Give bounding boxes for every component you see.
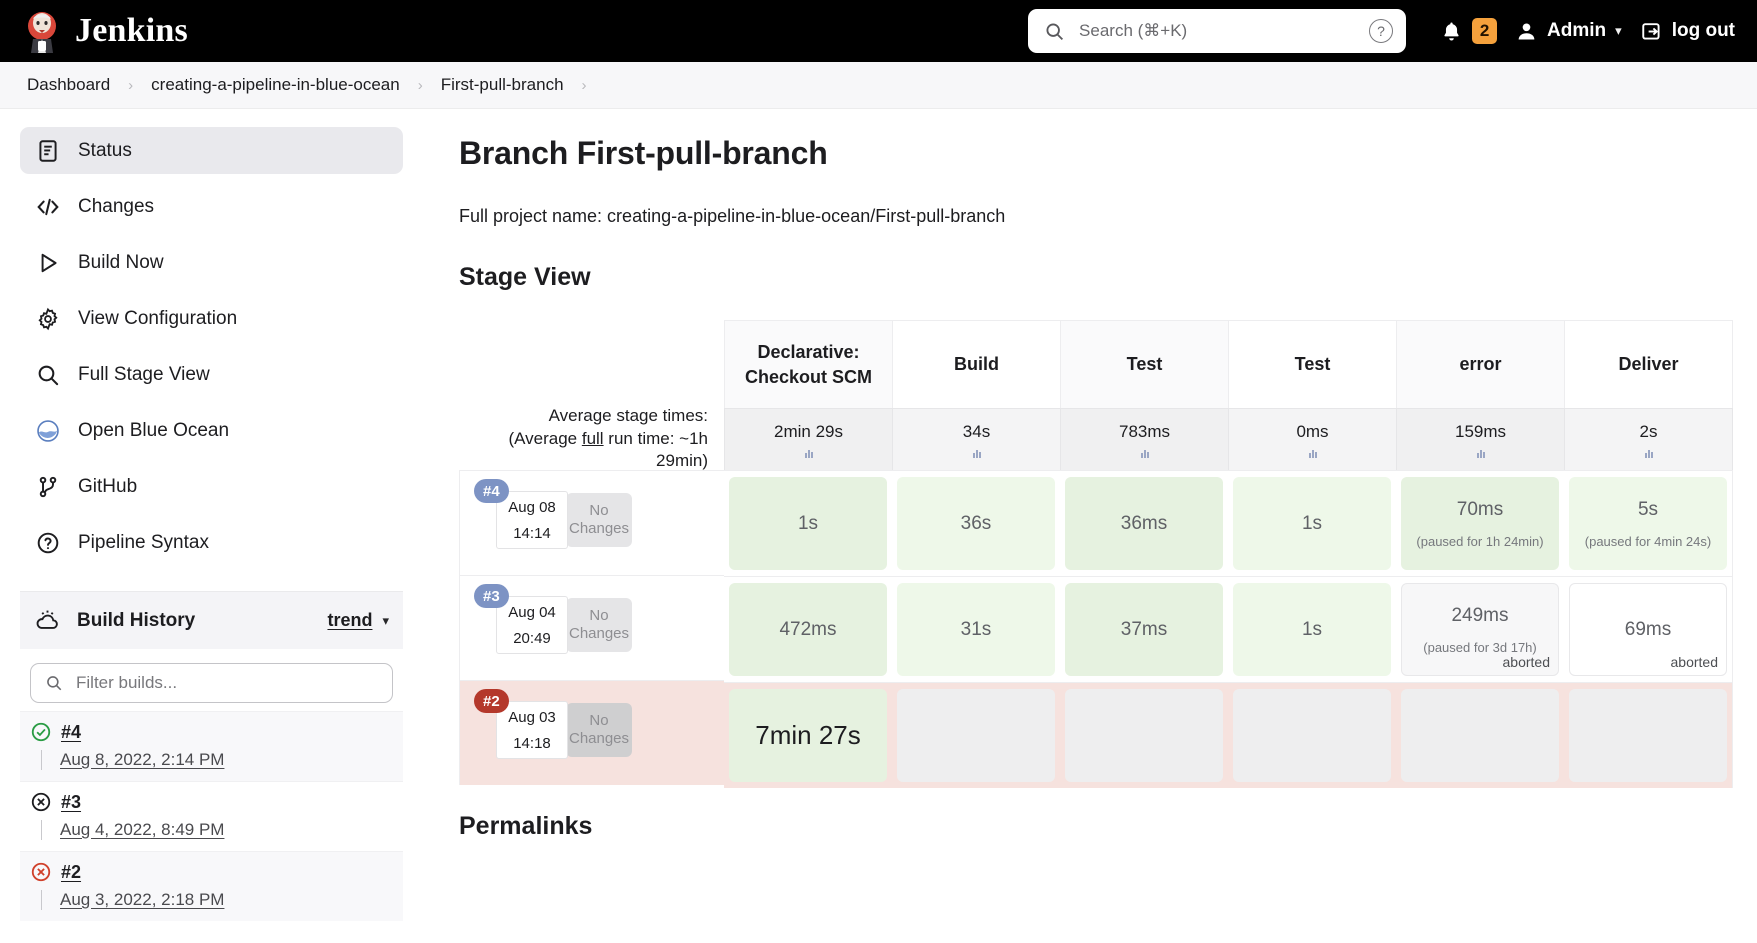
stage-cell[interactable]: 5s (paused for 4min 24s)	[1569, 477, 1727, 570]
sidebar-item-status[interactable]: Status	[20, 127, 403, 174]
notification-count-badge[interactable]: 2	[1472, 18, 1497, 44]
permalinks-title: Permalinks	[459, 812, 1733, 841]
build-date-chip[interactable]: Aug 03 14:18	[496, 701, 568, 759]
build-number-link[interactable]: #4	[61, 722, 81, 743]
build-row-label[interactable]: #3 Aug 04 20:49 No Changes	[459, 575, 724, 680]
stage-cell	[1233, 689, 1391, 782]
stage-cell[interactable]: 1s	[729, 477, 887, 570]
stage-paused-note: (paused for 1h 24min)	[1416, 534, 1543, 549]
build-time: 20:49	[513, 630, 551, 647]
sidebar-item-build-now[interactable]: Build Now	[20, 239, 403, 286]
average-time-cell: 783ms	[1060, 408, 1228, 470]
build-history-item[interactable]: #2 Aug 3, 2022, 2:18 PM	[20, 851, 403, 921]
stage-cell[interactable]: 69ms aborted	[1569, 583, 1727, 676]
mini-bar-chart-icon	[1477, 449, 1485, 458]
build-changes-chip[interactable]: No Changes	[566, 598, 632, 652]
jenkins-butler-logo	[22, 9, 62, 53]
x-circle-icon	[30, 861, 52, 883]
stage-duration: 1s	[1302, 513, 1322, 535]
check-circle-icon	[30, 721, 52, 743]
average-time-cell: 0ms	[1228, 408, 1396, 470]
average-time: 2s	[1640, 422, 1658, 442]
chevron-right-icon: ›	[575, 77, 594, 94]
build-number-link[interactable]: #3	[61, 792, 81, 813]
help-circle-icon[interactable]: ?	[1369, 19, 1393, 43]
x-circle-icon	[30, 791, 52, 813]
stage-header[interactable]: Test	[1228, 320, 1396, 408]
logout-icon	[1640, 20, 1663, 43]
average-time-cell: 2min 29s	[724, 408, 892, 470]
mini-bar-chart-icon	[973, 449, 981, 458]
sidebar-item-label: Open Blue Ocean	[78, 420, 229, 442]
play-triangle-icon	[35, 250, 61, 276]
stage-cell[interactable]: 37ms	[1065, 583, 1223, 676]
average-time: 2min 29s	[774, 422, 843, 442]
full-project-name: Full project name: creating-a-pipeline-i…	[459, 206, 1733, 227]
code-brackets-icon	[35, 194, 61, 220]
sidebar: Status Changes Build Now View Con	[0, 109, 423, 943]
stage-paused-note: (paused for 3d 17h)	[1423, 640, 1536, 655]
mini-bar-chart-icon	[1141, 449, 1149, 458]
blue-ocean-icon	[35, 418, 61, 444]
stage-duration: 1s	[798, 513, 818, 535]
stage-cell	[1569, 689, 1727, 782]
search-input[interactable]	[1077, 20, 1357, 42]
build-timestamp-link[interactable]: Aug 3, 2022, 2:18 PM	[60, 890, 393, 910]
sidebar-item-open-blue-ocean[interactable]: Open Blue Ocean	[20, 407, 403, 454]
build-row-label[interactable]: #4 Aug 08 14:14 No Changes	[459, 470, 724, 575]
average-time-cell: 34s	[892, 408, 1060, 470]
stage-header[interactable]: Deliver	[1564, 320, 1733, 408]
sidebar-item-label: Build Now	[78, 252, 164, 274]
build-history-item[interactable]: #3 Aug 4, 2022, 8:49 PM	[20, 781, 403, 851]
sidebar-item-full-stage-view[interactable]: Full Stage View	[20, 351, 403, 398]
stage-cell[interactable]: 70ms (paused for 1h 24min)	[1401, 477, 1559, 570]
build-date-chip[interactable]: Aug 08 14:14	[496, 491, 568, 549]
stage-status-note: aborted	[1671, 654, 1718, 670]
stage-cell[interactable]: 36s	[897, 477, 1055, 570]
sidebar-item-github[interactable]: GitHub	[20, 463, 403, 510]
sidebar-item-changes[interactable]: Changes	[20, 183, 403, 230]
stage-paused-note: (paused for 4min 24s)	[1585, 534, 1711, 549]
average-time: 783ms	[1119, 422, 1170, 442]
stage-grid: Declarative:Checkout SCM Build Test Test…	[724, 320, 1733, 788]
stage-build-row: 7min 27s	[724, 682, 1733, 788]
trend-label: trend	[327, 610, 372, 631]
weather-trend-icon	[34, 607, 61, 634]
build-timestamp-link[interactable]: Aug 8, 2022, 2:14 PM	[60, 750, 393, 770]
stage-duration: 70ms	[1457, 499, 1503, 521]
stage-header[interactable]: Test	[1060, 320, 1228, 408]
build-date: Aug 03	[508, 709, 556, 726]
stage-duration: 31s	[961, 619, 992, 641]
build-changes-chip[interactable]: No Changes	[566, 703, 632, 757]
stage-view-table: Average stage times: (Average full run t…	[459, 320, 1733, 788]
build-history-trend-toggle[interactable]: trend ▾	[327, 610, 389, 631]
chevron-down-icon[interactable]: ▾	[1615, 23, 1622, 39]
stage-header[interactable]: Declarative:Checkout SCM	[724, 320, 892, 408]
gear-icon	[35, 306, 61, 332]
search-icon	[1044, 21, 1065, 42]
stage-duration: 249ms	[1451, 605, 1508, 627]
search-icon	[45, 674, 63, 692]
user-name: Admin	[1547, 20, 1606, 42]
average-times-row: 2min 29s 34s 783ms 0ms	[724, 408, 1733, 470]
magnifier-icon	[35, 362, 61, 388]
build-filter	[20, 649, 403, 711]
build-date-chip[interactable]: Aug 04 20:49	[496, 596, 568, 654]
stage-header[interactable]: error	[1396, 320, 1564, 408]
build-number-link[interactable]: #2	[61, 862, 81, 883]
logout-button[interactable]: log out	[1640, 20, 1735, 43]
stage-duration: 37ms	[1121, 619, 1167, 641]
average-time-cell: 2s	[1564, 408, 1733, 470]
avg-line-2: (Average full run time: ~1h 29min)	[459, 428, 708, 474]
stage-cell[interactable]: 1s	[1233, 583, 1391, 676]
chevron-right-icon: ›	[411, 77, 430, 94]
stage-duration: 69ms	[1625, 619, 1671, 641]
chevron-down-icon: ▾	[382, 613, 389, 629]
build-time: 14:14	[513, 525, 551, 542]
build-changes-chip[interactable]: No Changes	[566, 493, 632, 547]
stage-cell[interactable]: 472ms	[729, 583, 887, 676]
build-history-item[interactable]: #4 Aug 8, 2022, 2:14 PM	[20, 711, 403, 781]
document-status-icon	[35, 138, 61, 164]
stage-cell[interactable]: 31s	[897, 583, 1055, 676]
breadcrumb-item-project[interactable]: creating-a-pipeline-in-blue-ocean	[144, 72, 407, 98]
page-title: Branch First-pull-branch	[459, 135, 1733, 172]
global-search[interactable]: ?	[1028, 9, 1406, 53]
build-history-title: Build History	[77, 610, 195, 632]
stage-duration: 472ms	[779, 619, 836, 641]
stage-row-labels: Average stage times: (Average full run t…	[459, 320, 724, 788]
sidebar-item-label: Changes	[78, 196, 154, 218]
stage-cell[interactable]: 7min 27s	[729, 689, 887, 782]
sidebar-item-view-configuration[interactable]: View Configuration	[20, 295, 403, 342]
breadcrumb-item-branch[interactable]: First-pull-branch	[434, 72, 571, 98]
filter-builds-input[interactable]	[74, 672, 378, 694]
user-menu[interactable]: Admin ▾	[1515, 20, 1622, 43]
build-badge[interactable]: #2	[474, 689, 509, 713]
logout-label: log out	[1672, 20, 1735, 42]
stage-build-row: 1s 36s 36ms 1s 70ms (paused for 1h 24min…	[724, 470, 1733, 576]
mini-bar-chart-icon	[805, 449, 813, 458]
stage-header[interactable]: Build	[892, 320, 1060, 408]
main-content: Branch First-pull-branch Full project na…	[423, 109, 1757, 943]
label-spacer	[459, 320, 724, 408]
bell-icon	[1440, 20, 1463, 43]
sidebar-item-label: View Configuration	[78, 308, 237, 330]
header-actions: 2 Admin ▾ log out	[1440, 18, 1735, 44]
build-badge[interactable]: #4	[474, 479, 509, 503]
breadcrumb: Dashboard › creating-a-pipeline-in-blue-…	[0, 62, 1757, 109]
brand-title: Jenkins	[75, 12, 188, 50]
build-timestamp-link[interactable]: Aug 4, 2022, 8:49 PM	[60, 820, 393, 840]
sidebar-item-label: GitHub	[78, 476, 137, 498]
stage-duration: 1s	[1302, 619, 1322, 641]
stage-cell[interactable]: 249ms (paused for 3d 17h) aborted	[1401, 583, 1559, 676]
build-row-label[interactable]: #2 Aug 03 14:18 No Changes	[459, 680, 724, 785]
app-header: Jenkins ? 2 Admin ▾	[0, 0, 1757, 62]
average-time: 34s	[963, 422, 990, 442]
stage-duration: 36s	[961, 513, 992, 535]
jenkins-brand[interactable]: Jenkins	[22, 9, 188, 53]
stage-cell	[1065, 689, 1223, 782]
stage-cell[interactable]: 36ms	[1065, 477, 1223, 570]
sidebar-nav: Status Changes Build Now View Con	[20, 127, 403, 575]
average-time-cell: 159ms	[1396, 408, 1564, 470]
stage-cell	[897, 689, 1055, 782]
stage-cell	[1401, 689, 1559, 782]
notifications-button[interactable]: 2	[1440, 18, 1497, 44]
chevron-right-icon: ›	[121, 77, 140, 94]
git-branch-icon	[35, 474, 61, 500]
sidebar-item-label: Pipeline Syntax	[78, 532, 209, 554]
build-date: Aug 04	[508, 604, 556, 621]
build-badge[interactable]: #3	[474, 584, 509, 608]
stage-cell[interactable]: 1s	[1233, 477, 1391, 570]
stage-duration: 7min 27s	[755, 720, 861, 751]
average-time: 0ms	[1296, 422, 1328, 442]
build-date: Aug 08	[508, 499, 556, 516]
build-history-header: Build History trend ▾	[20, 591, 403, 649]
sidebar-item-label: Status	[78, 140, 132, 162]
mini-bar-chart-icon	[1309, 449, 1317, 458]
stage-status-note: aborted	[1503, 654, 1550, 670]
stage-view-title: Stage View	[459, 263, 1733, 292]
question-circle-icon	[35, 530, 61, 556]
average-stage-times-label: Average stage times: (Average full run t…	[459, 408, 724, 470]
avg-line-1: Average stage times:	[549, 405, 708, 428]
average-time: 159ms	[1455, 422, 1506, 442]
person-icon	[1515, 20, 1538, 43]
mini-bar-chart-icon	[1645, 449, 1653, 458]
stage-duration: 5s	[1638, 499, 1658, 521]
stage-header-row: Declarative:Checkout SCM Build Test Test…	[724, 320, 1733, 408]
sidebar-item-label: Full Stage View	[78, 364, 210, 386]
breadcrumb-item-dashboard[interactable]: Dashboard	[20, 72, 117, 98]
build-time: 14:18	[513, 735, 551, 752]
stage-build-row: 472ms 31s 37ms 1s 249ms (paused for 3d 1…	[724, 576, 1733, 682]
stage-duration: 36ms	[1121, 513, 1167, 535]
sidebar-item-pipeline-syntax[interactable]: Pipeline Syntax	[20, 519, 403, 566]
